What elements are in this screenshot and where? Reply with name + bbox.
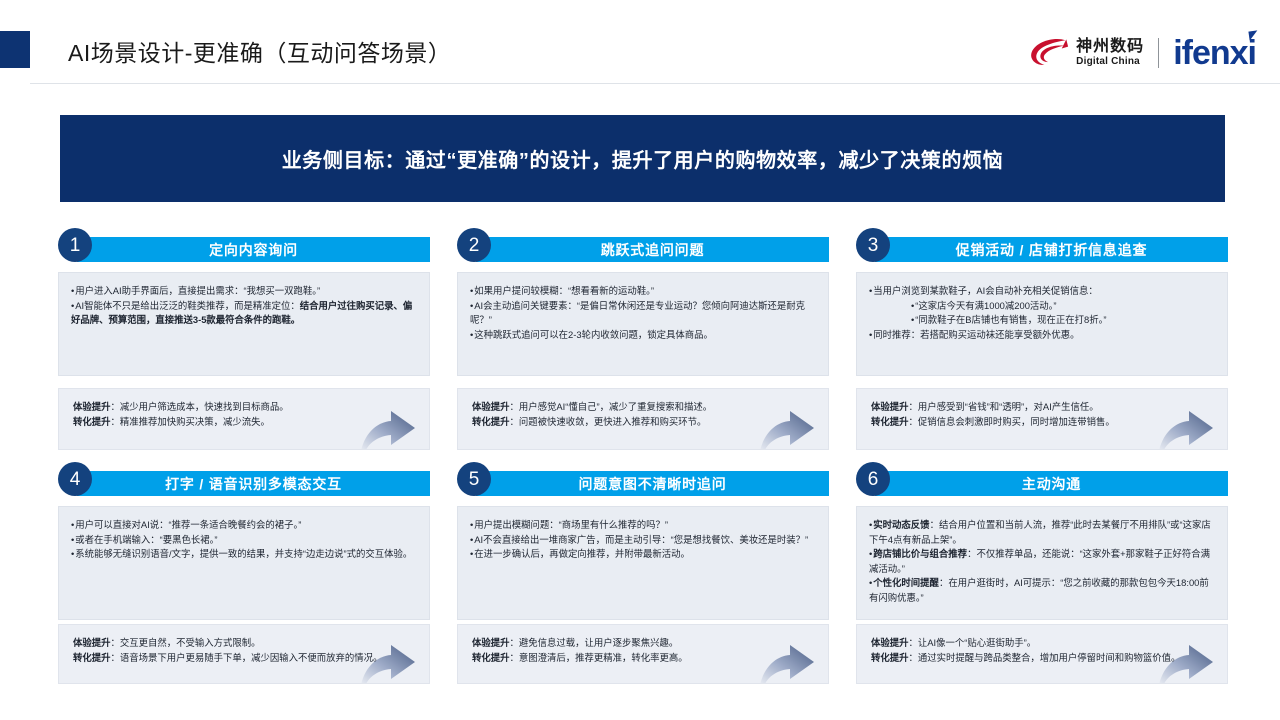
bullet-item: 个性化时间提醒：在用户逛街时，AI可提示：“您之前收藏的那款包包今天18:00前… [869, 576, 1215, 605]
card-impact-box: 体验提升：减少用户筛选成本，快速找到目标商品。 转化提升：精准推荐加快购买决策，… [58, 388, 430, 450]
bullet-item: 实时动态反馈：结合用户位置和当前人流，推荐“此时去某餐厅不用排队”或“这家店下午… [869, 518, 1215, 547]
card-title: 促销活动 / 店铺打折信息追查 [956, 240, 1148, 260]
bullet-item: 如果用户提问较模糊：“想看看新的运动鞋。” [470, 284, 816, 299]
digital-china-wordmark: 神州数码 Digital China [1076, 39, 1144, 67]
card-body: 实时动态反馈：结合用户位置和当前人流，推荐“此时去某餐厅不用排队”或“这家店下午… [856, 506, 1228, 620]
logo-en-text: Digital China [1076, 57, 1144, 67]
card-number-badge: 4 [58, 462, 92, 496]
slide-header: AI场景设计-更准确（互动问答场景） 神州数码 Digital China if… [0, 0, 1280, 84]
card-impact-box: 体验提升：用户感受到“省钱”和“透明”，对AI产生信任。 转化提升：促销信息会刺… [856, 388, 1228, 450]
conversion-uplift-line: 转化提升：意图澄清后，推荐更精准，转化率更高。 [472, 651, 816, 666]
ifenxi-wordmark: ifenxi [1173, 34, 1256, 72]
card-impact-box: 体验提升：用户感觉AI“懂自己”，减少了重复搜索和描述。 转化提升：问题被快速收… [457, 388, 829, 450]
card-header-bar: 跳跃式追问问题 [476, 237, 829, 262]
bullet-item: 用户提出模糊问题：“商场里有什么推荐的吗？” [470, 518, 816, 533]
bullet-item: 当用户浏览到某款鞋子，AI会自动补充相关促销信息： [869, 284, 1215, 299]
conversion-uplift-line: 转化提升：促销信息会刺激即时购买，同时增加连带销售。 [871, 415, 1215, 430]
card-title: 主动沟通 [1022, 474, 1081, 494]
card-impact-box: 体验提升：避免信息过载，让用户逐步聚焦兴趣。 转化提升：意图澄清后，推荐更精准，… [457, 624, 829, 684]
bullet-item: 或者在手机端输入：“要黑色长裙。” [71, 533, 417, 548]
card-header-bar: 定向内容询问 [77, 237, 430, 262]
scenario-card-1: 1 定向内容询问 用户进入AI助手界面后，直接提出需求：“我想买一双跑鞋。”AI… [58, 228, 430, 450]
conversion-uplift-line: 转化提升：精准推荐加快购买决策，减少流失。 [73, 415, 417, 430]
header-divider [30, 83, 1280, 84]
bullet-item: AI智能体不只是给出泛泛的鞋类推荐，而是精准定位：结合用户过往购买记录、偏好品牌… [71, 299, 417, 328]
card-title: 定向内容询问 [209, 240, 298, 260]
card-header-bar: 打字 / 语音识别多模态交互 [77, 471, 430, 496]
experience-uplift-line: 体验提升：减少用户筛选成本，快速找到目标商品。 [73, 400, 417, 415]
card-bullet-list: 实时动态反馈：结合用户位置和当前人流，推荐“此时去某餐厅不用排队”或“这家店下午… [869, 518, 1215, 605]
bullet-item: “同款鞋子在B店铺也有销售，现在正在打8折。” [869, 313, 1215, 328]
card-body: 用户可以直接对AI说：“推荐一条适合晚餐约会的裙子。”或者在手机端输入：“要黑色… [58, 506, 430, 620]
conversion-uplift-line: 转化提升：问题被快速收敛，更快进入推荐和购买环节。 [472, 415, 816, 430]
card-body: 当用户浏览到某款鞋子，AI会自动补充相关促销信息：“这家店今天有满1000减20… [856, 272, 1228, 376]
scenario-card-2: 2 跳跃式追问问题 如果用户提问较模糊：“想看看新的运动鞋。”AI会主动追问关键… [457, 228, 829, 450]
card-body: 用户进入AI助手界面后，直接提出需求：“我想买一双跑鞋。”AI智能体不只是给出泛… [58, 272, 430, 376]
bullet-item: 用户进入AI助手界面后，直接提出需求：“我想买一双跑鞋。” [71, 284, 417, 299]
page-title: AI场景设计-更准确（互动问答场景） [68, 34, 451, 68]
card-number-badge: 1 [58, 228, 92, 262]
digital-china-logo: 神州数码 Digital China [1029, 37, 1144, 69]
card-header-bar: 问题意图不清晰时追问 [476, 471, 829, 496]
bullet-item: 在进一步确认后，再做定向推荐，并附带最新活动。 [470, 547, 816, 562]
experience-uplift-line: 体验提升：交互更自然，不受输入方式限制。 [73, 636, 417, 651]
scenario-card-5: 5 问题意图不清晰时追问 用户提出模糊问题：“商场里有什么推荐的吗？”AI不会直… [457, 462, 829, 684]
card-number-badge: 3 [856, 228, 890, 262]
card-bullet-list: 用户可以直接对AI说：“推荐一条适合晚餐约会的裙子。”或者在手机端输入：“要黑色… [71, 518, 417, 562]
objective-banner-text: 业务侧目标：通过“更准确”的设计，提升了用户的购物效率，减少了决策的烦恼 [282, 144, 1004, 173]
header-accent-tab [0, 31, 30, 68]
logo-group: 神州数码 Digital China ifenxi [1029, 30, 1256, 76]
card-bullet-list: 用户进入AI助手界面后，直接提出需求：“我想买一双跑鞋。”AI智能体不只是给出泛… [71, 284, 417, 328]
bullet-item: 系统能够无缝识别语音/文字，提供一致的结果，并支持“边走边说”式的交互体验。 [71, 547, 417, 562]
scenario-card-3: 3 促销活动 / 店铺打折信息追查 当用户浏览到某款鞋子，AI会自动补充相关促销… [856, 228, 1228, 450]
card-number-badge: 6 [856, 462, 890, 496]
card-bullet-list: 如果用户提问较模糊：“想看看新的运动鞋。”AI会主动追问关键要素：“是偏日常休闲… [470, 284, 816, 342]
card-title: 问题意图不清晰时追问 [579, 474, 727, 494]
slide-root: AI场景设计-更准确（互动问答场景） 神州数码 Digital China if… [0, 0, 1280, 720]
bullet-item: AI不会直接给出一堆商家广告，而是主动引导：“您是想找餐饮、美妆还是时装？” [470, 533, 816, 548]
ifenxi-tick-icon [1248, 30, 1258, 40]
card-bullet-list: 用户提出模糊问题：“商场里有什么推荐的吗？”AI不会直接给出一堆商家广告，而是主… [470, 518, 816, 562]
card-header-bar: 主动沟通 [875, 471, 1228, 496]
card-number-badge: 5 [457, 462, 491, 496]
scenario-card-6: 6 主动沟通 实时动态反馈：结合用户位置和当前人流，推荐“此时去某餐厅不用排队”… [856, 462, 1228, 684]
bullet-item: “这家店今天有满1000减200活动。” [869, 299, 1215, 314]
logo-divider [1158, 38, 1159, 68]
card-body: 用户提出模糊问题：“商场里有什么推荐的吗？”AI不会直接给出一堆商家广告，而是主… [457, 506, 829, 620]
digital-china-swirl-icon [1029, 37, 1069, 69]
bullet-item: 同时推荐：若搭配购买运动袜还能享受额外优惠。 [869, 328, 1215, 343]
card-header-bar: 促销活动 / 店铺打折信息追查 [875, 237, 1228, 262]
conversion-uplift-line: 转化提升：语音场景下用户更易随手下单，减少因输入不便而放弃的情况。 [73, 651, 417, 666]
card-title: 打字 / 语音识别多模态交互 [165, 474, 342, 494]
card-impact-box: 体验提升：让AI像一个“贴心逛街助手”。 转化提升：通过实时提醒与跨品类整合，增… [856, 624, 1228, 684]
card-body: 如果用户提问较模糊：“想看看新的运动鞋。”AI会主动追问关键要素：“是偏日常休闲… [457, 272, 829, 376]
card-bullet-list: 当用户浏览到某款鞋子，AI会自动补充相关促销信息：“这家店今天有满1000减20… [869, 284, 1215, 342]
bullet-item: 这种跳跃式追问可以在2-3轮内收敛问题，锁定具体商品。 [470, 328, 816, 343]
card-impact-box: 体验提升：交互更自然，不受输入方式限制。 转化提升：语音场景下用户更易随手下单，… [58, 624, 430, 684]
bullet-item: 跨店铺比价与组合推荐：不仅推荐单品，还能说：“这家外套+那家鞋子正好符合满减活动… [869, 547, 1215, 576]
scenario-card-4: 4 打字 / 语音识别多模态交互 用户可以直接对AI说：“推荐一条适合晚餐约会的… [58, 462, 430, 684]
conversion-uplift-line: 转化提升：通过实时提醒与跨品类整合，增加用户停留时间和购物篮价值。 [871, 651, 1215, 666]
experience-uplift-line: 体验提升：让AI像一个“贴心逛街助手”。 [871, 636, 1215, 651]
card-number-badge: 2 [457, 228, 491, 262]
scenario-card-grid: 1 定向内容询问 用户进入AI助手界面后，直接提出需求：“我想买一双跑鞋。”AI… [58, 228, 1228, 706]
logo-cn-text: 神州数码 [1076, 39, 1144, 55]
experience-uplift-line: 体验提升：用户感受到“省钱”和“透明”，对AI产生信任。 [871, 400, 1215, 415]
card-title: 跳跃式追问问题 [601, 240, 705, 260]
bullet-item: AI会主动追问关键要素：“是偏日常休闲还是专业运动？您倾向阿迪达斯还是耐克呢？” [470, 299, 816, 328]
bullet-item: 用户可以直接对AI说：“推荐一条适合晚餐约会的裙子。” [71, 518, 417, 533]
experience-uplift-line: 体验提升：用户感觉AI“懂自己”，减少了重复搜索和描述。 [472, 400, 816, 415]
experience-uplift-line: 体验提升：避免信息过载，让用户逐步聚焦兴趣。 [472, 636, 816, 651]
objective-banner: 业务侧目标：通过“更准确”的设计，提升了用户的购物效率，减少了决策的烦恼 [60, 115, 1225, 202]
ifenxi-logo: ifenxi [1173, 34, 1256, 73]
